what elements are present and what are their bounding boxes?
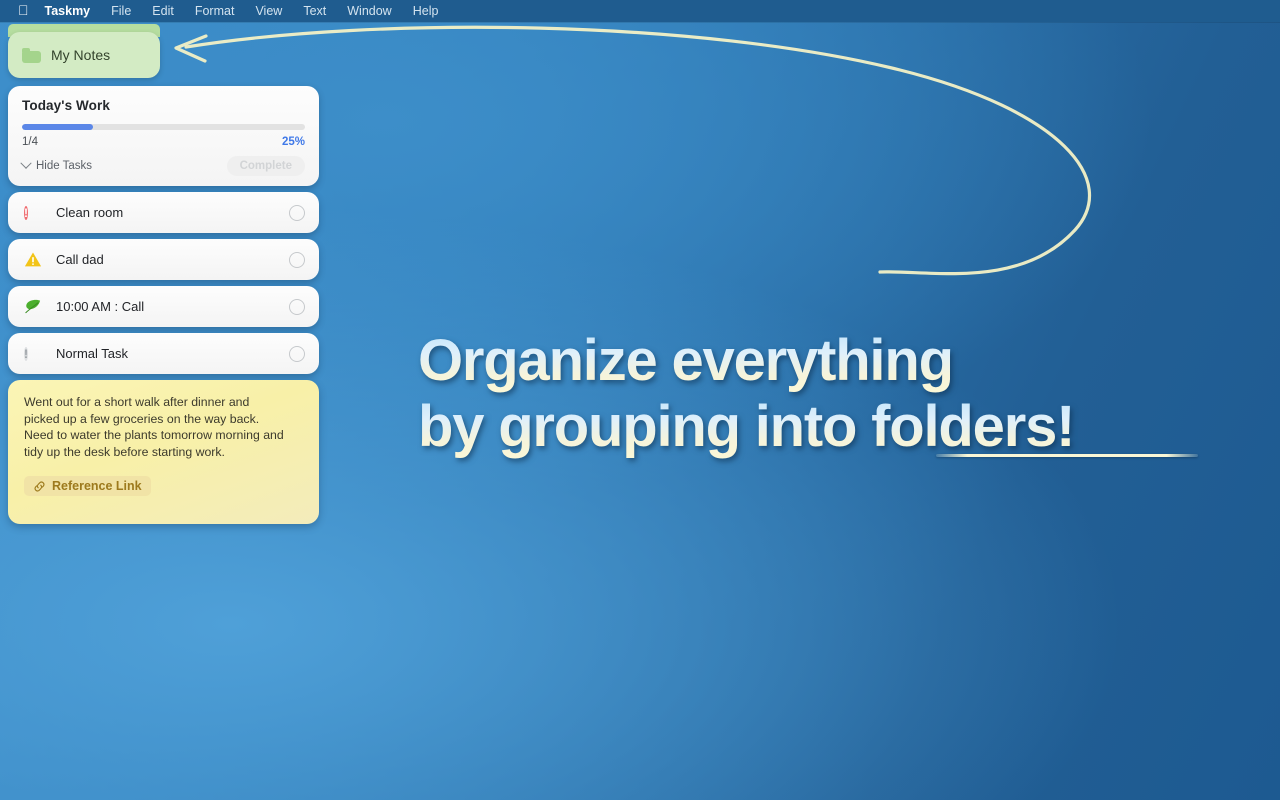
headline-line-1: Organize everything [418, 328, 1208, 394]
menu-item-file[interactable]: File [111, 4, 131, 18]
task-row[interactable]: 10:00 AM : Call [8, 286, 319, 327]
note-body: Went out for a short walk after dinner a… [24, 394, 303, 460]
menu-item-window[interactable]: Window [347, 4, 391, 18]
task-label: Call dad [56, 252, 275, 267]
summary-count: 1/4 [22, 136, 38, 148]
complete-button[interactable]: Complete [227, 156, 305, 176]
hide-tasks-label: Hide Tasks [36, 160, 92, 172]
warning-triangle-icon [24, 251, 42, 269]
task-checkbox[interactable] [289, 346, 305, 362]
exclamation-circle-grey-icon: ! [24, 345, 42, 363]
headline-block: Organize everything by grouping into fol… [418, 328, 1208, 460]
folder-chip-label: My Notes [51, 47, 110, 63]
apple-logo-icon[interactable]:  [18, 3, 29, 17]
menu-bar:  Taskmy File Edit Format View Text Wind… [0, 0, 1280, 22]
task-checkbox[interactable] [289, 299, 305, 315]
menu-item-format[interactable]: Format [195, 4, 235, 18]
folder-icon [22, 48, 41, 63]
note-card[interactable]: Went out for a short walk after dinner a… [8, 380, 319, 524]
link-chain-icon [33, 480, 46, 493]
chevron-down-icon [20, 158, 31, 169]
progress-bar-fill [22, 124, 93, 130]
task-row[interactable]: ! Clean room [8, 192, 319, 233]
task-label: Normal Task [56, 346, 275, 361]
folder-chip-my-notes[interactable]: My Notes [8, 32, 160, 78]
task-label: 10:00 AM : Call [56, 299, 275, 314]
today-summary-card: Today's Work 1/4 25% Hide Tasks Complete [8, 86, 319, 186]
task-checkbox[interactable] [289, 205, 305, 221]
progress-bar-track [22, 124, 305, 130]
leaf-icon [24, 298, 42, 316]
hide-tasks-toggle[interactable]: Hide Tasks [22, 160, 92, 172]
menu-item-help[interactable]: Help [413, 4, 439, 18]
exclamation-circle-icon: ! [24, 204, 42, 222]
menu-item-view[interactable]: View [255, 4, 282, 18]
task-checkbox[interactable] [289, 252, 305, 268]
headline-underline [936, 454, 1198, 457]
menu-item-edit[interactable]: Edit [152, 4, 174, 18]
menu-item-text[interactable]: Text [303, 4, 326, 18]
task-row[interactable]: Call dad [8, 239, 319, 280]
reference-link-label: Reference Link [52, 479, 142, 493]
task-row[interactable]: ! Normal Task [8, 333, 319, 374]
task-label: Clean room [56, 205, 275, 220]
summary-title: Today's Work [22, 98, 305, 113]
menu-item-app[interactable]: Taskmy [45, 4, 91, 18]
reference-link-badge[interactable]: Reference Link [24, 476, 151, 496]
summary-percent: 25% [282, 136, 305, 148]
headline-line-2: by grouping into folders! [418, 394, 1208, 460]
task-panel: Today's Work 1/4 25% Hide Tasks Complete… [8, 86, 319, 524]
